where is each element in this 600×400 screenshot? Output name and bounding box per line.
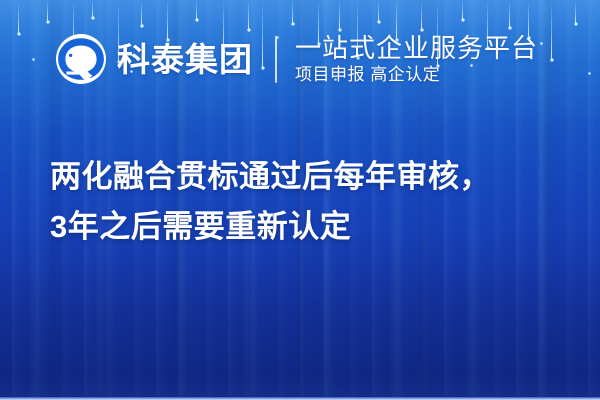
header-divider	[275, 36, 277, 83]
brand-header: 科泰集团 一站式企业服务平台 项目申报 高企认定	[55, 30, 538, 88]
slogan-primary: 一站式企业服务平台	[295, 34, 538, 62]
headline-line-1: 两化融合贯标通过后每年审核，	[50, 152, 570, 202]
headline-line-2: 3年之后需要重新认定	[50, 202, 570, 252]
meteor-streak-icon	[509, 0, 510, 28]
spark-dot-icon	[540, 42, 543, 45]
bottom-shade-overlay	[0, 230, 600, 400]
meteor-streak-icon	[551, 0, 552, 60]
spark-dot-icon	[588, 72, 591, 75]
meteor-streak-icon	[92, 0, 93, 18]
meteor-streak-icon	[575, 0, 576, 24]
meteor-streak-icon	[292, 0, 293, 24]
meteor-streak-icon	[462, 0, 463, 20]
meteor-streak-icon	[248, 0, 249, 30]
banner-root: 科泰集团 一站式企业服务平台 项目申报 高企认定 两化融合贯标通过后每年审核， …	[0, 0, 600, 400]
slogan-secondary: 项目申报 高企认定	[295, 66, 538, 85]
meteor-streak-icon	[421, 0, 422, 30]
slogan-group: 一站式企业服务平台 项目申报 高企认定	[295, 34, 538, 85]
meteor-streak-icon	[18, 0, 19, 34]
meteor-streak-icon	[196, 0, 197, 20]
ketai-circular-r-logo-icon	[55, 33, 107, 85]
headline: 两化融合贯标通过后每年审核， 3年之后需要重新认定	[50, 152, 570, 252]
spark-dot-icon	[32, 58, 35, 61]
meteor-streak-icon	[47, 0, 48, 22]
meteor-streak-icon	[378, 0, 379, 22]
brand-name: 科泰集团	[117, 43, 253, 76]
meteor-streak-icon	[339, 0, 340, 30]
meteor-streak-icon	[141, 0, 142, 26]
